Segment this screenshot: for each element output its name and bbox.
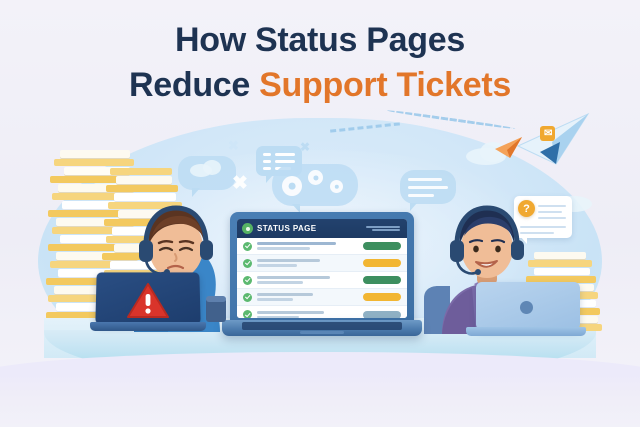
gear-icon xyxy=(330,180,343,193)
laptop-logo-icon xyxy=(520,301,533,314)
status-row-label xyxy=(257,242,358,250)
left-laptop xyxy=(90,272,206,334)
chat-bubble-tail xyxy=(410,203,417,211)
status-badge xyxy=(363,259,401,267)
title-line-1: How Status Pages xyxy=(0,18,640,63)
status-row-label xyxy=(257,293,358,301)
laptop-trackpad xyxy=(300,331,344,334)
status-row-label xyxy=(257,311,358,318)
check-circle-icon xyxy=(243,276,252,285)
laptop-screen: STATUS PAGE xyxy=(237,219,407,318)
status-page-rows xyxy=(237,238,407,318)
title-line-2-part-1: Reduce xyxy=(129,66,259,104)
check-circle-icon xyxy=(243,242,252,251)
laptop-keyboard xyxy=(242,322,402,330)
status-page-laptop: STATUS PAGE xyxy=(222,212,422,344)
status-page-title: STATUS PAGE xyxy=(257,224,317,233)
title-line-2-part-2: Support Tickets xyxy=(259,66,511,104)
banner-image: ✖ ✖ ✖ ✉ xyxy=(0,0,640,427)
x-mark-icon: ✖ xyxy=(300,140,310,154)
status-row[interactable] xyxy=(237,238,407,255)
laptop-lid: STATUS PAGE xyxy=(230,212,414,324)
bottom-margin xyxy=(0,374,640,427)
status-row-label xyxy=(257,259,358,267)
gear-icon xyxy=(308,170,323,185)
status-badge xyxy=(363,242,401,250)
left-desk-object-top xyxy=(206,296,226,302)
status-page-header: STATUS PAGE xyxy=(237,219,407,238)
small-paper-plane-icon xyxy=(494,136,524,160)
status-row[interactable] xyxy=(237,289,407,306)
status-badge xyxy=(363,311,401,319)
x-mark-icon: ✖ xyxy=(228,138,239,154)
plane-badge-glyph: ✉ xyxy=(544,128,552,139)
status-row[interactable] xyxy=(237,272,407,289)
banner-title: How Status Pages Reduce Support Tickets xyxy=(0,18,640,108)
right-laptop xyxy=(466,282,586,338)
status-page-header-meta xyxy=(366,226,402,232)
gear-icon xyxy=(282,176,302,196)
status-row[interactable] xyxy=(237,306,407,318)
red-warning-triangle-icon xyxy=(126,282,170,320)
status-row[interactable] xyxy=(237,255,407,272)
check-circle-icon xyxy=(243,293,252,302)
status-badge xyxy=(363,276,401,284)
status-badge xyxy=(363,293,401,301)
status-row-label xyxy=(257,276,358,284)
check-circle-icon xyxy=(243,310,252,318)
status-indicator-icon xyxy=(242,223,253,234)
laptop-base xyxy=(222,320,422,336)
check-circle-icon xyxy=(243,259,252,268)
title-line-2: Reduce Support Tickets xyxy=(0,63,640,108)
